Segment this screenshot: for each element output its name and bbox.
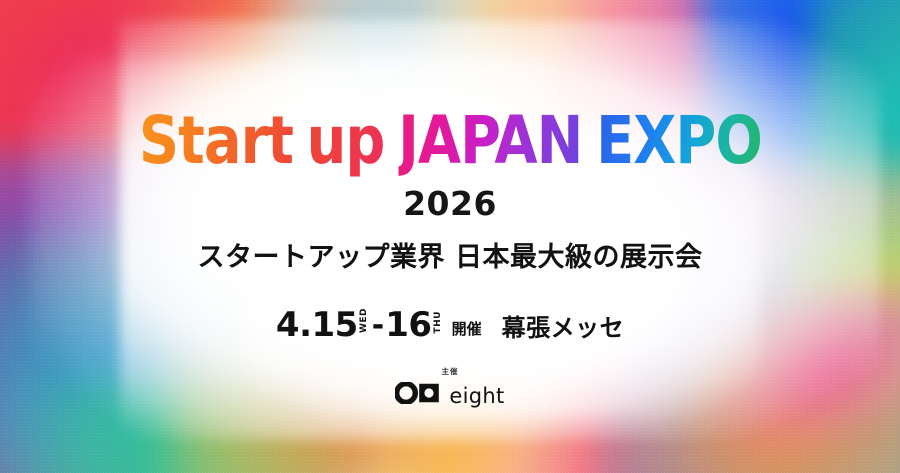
date-separator: - — [371, 308, 385, 343]
wordmark-segment-start: Start — [139, 102, 293, 179]
event-date-row: 4.15 WED - 16 THU 開催 幕張メッセ — [276, 308, 624, 344]
poster-content: StartupJAPANEXPO 2026 スタートアップ業界 日本最大級の展示… — [0, 0, 900, 473]
event-wordmark: StartupJAPANEXPO — [139, 108, 762, 174]
wordmark-segment-expo: EXPO — [596, 102, 762, 179]
event-venue: 幕張メッセ — [502, 308, 625, 343]
organizer-block: 主催 eight — [395, 366, 504, 409]
eight-ring-square-icon — [395, 382, 441, 409]
date-suffix-label: 開催 — [452, 318, 482, 339]
date-start-dayofweek: WED — [360, 308, 369, 333]
wordmark-segment-japan: JAPAN — [398, 102, 582, 179]
event-tagline: スタートアップ業界 日本最大級の展示会 — [198, 235, 703, 274]
organizer-label: 主催 — [441, 366, 458, 377]
expo-key-visual: StartupJAPANEXPO 2026 スタートアップ業界 日本最大級の展示… — [0, 0, 900, 473]
date-start-day: 4.15 — [276, 308, 358, 342]
eight-brand-lockup: eight — [395, 382, 504, 409]
date-end-dayofweek: THU — [434, 311, 443, 333]
event-year: 2026 — [403, 184, 497, 223]
eight-brand-name: eight — [449, 384, 504, 408]
date-end-day: 16 — [385, 308, 431, 342]
wordmark-segment-up: up — [306, 102, 384, 179]
